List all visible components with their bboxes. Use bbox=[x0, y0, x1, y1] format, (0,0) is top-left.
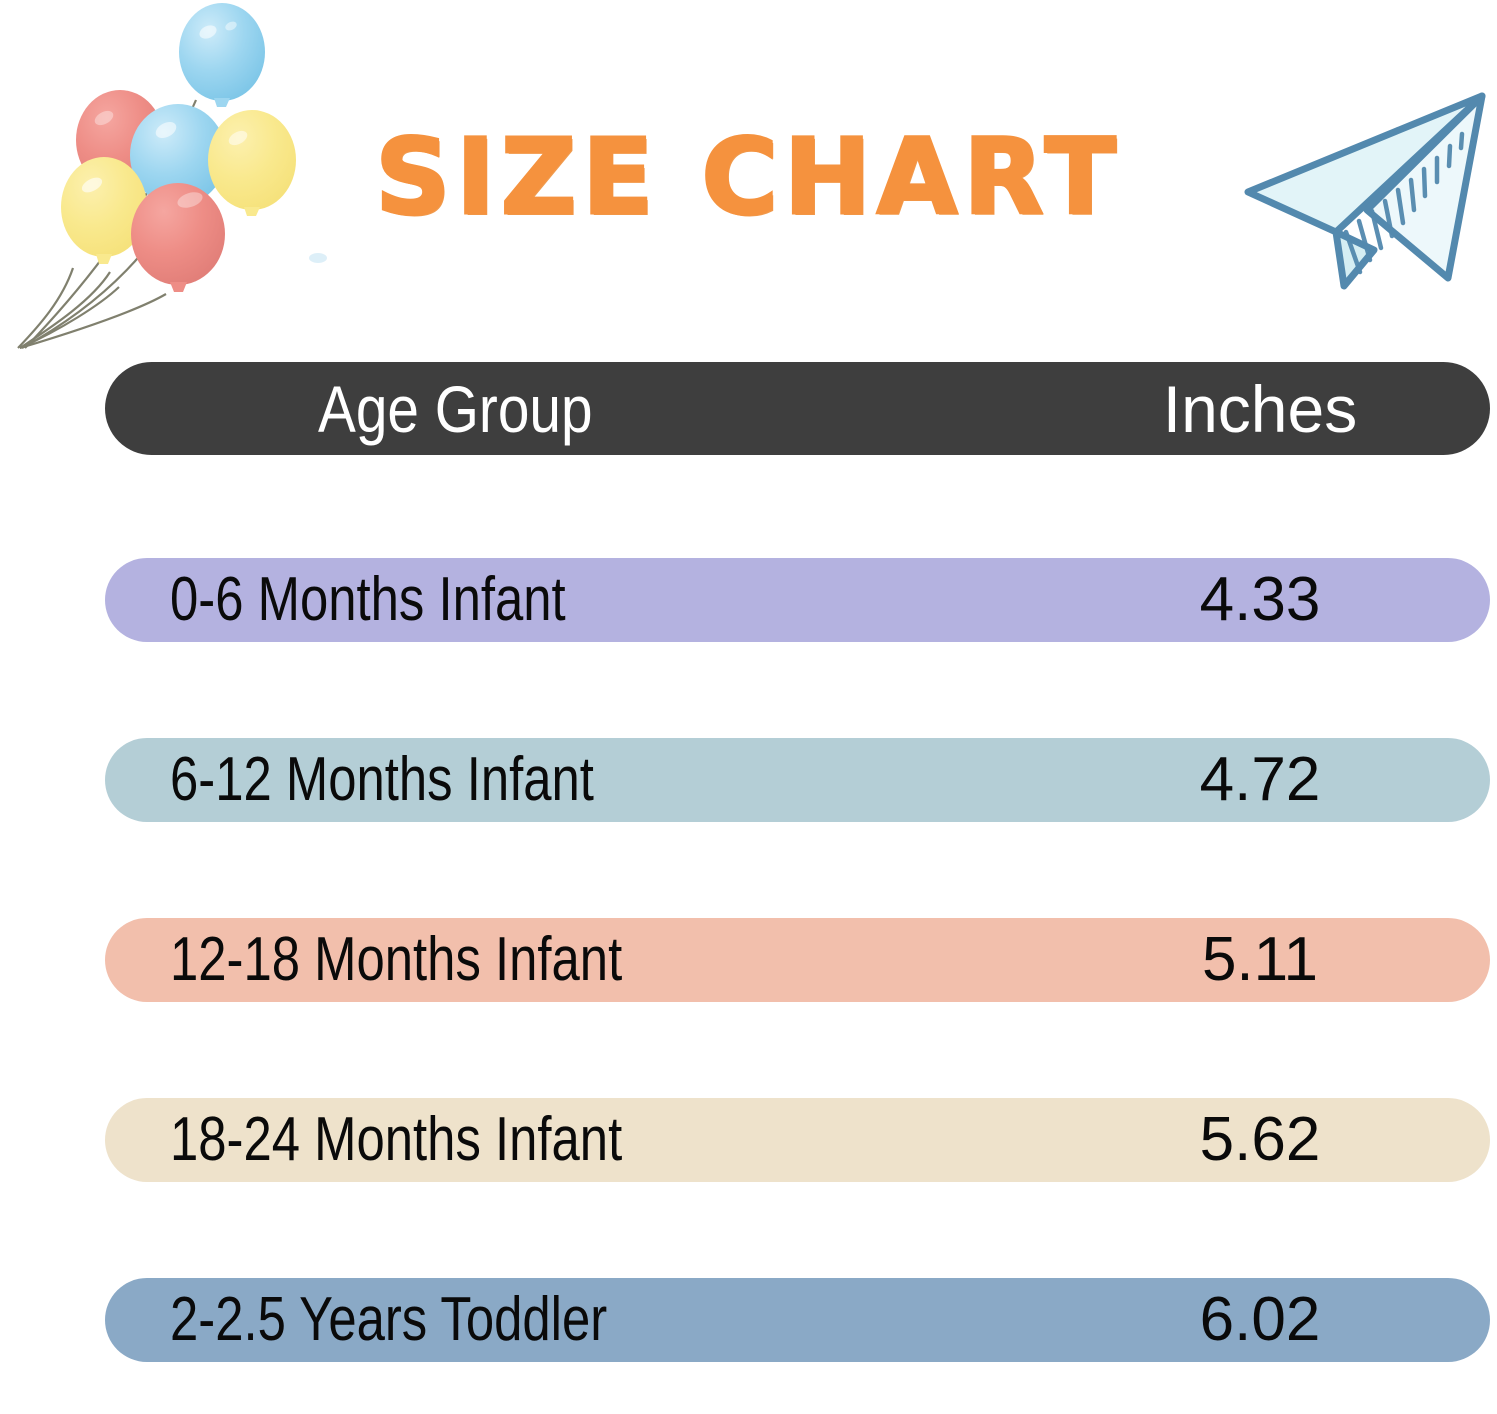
table-row: 0-6 Months Infant 4.33 bbox=[105, 558, 1490, 642]
header-inches: Inches bbox=[1105, 376, 1415, 442]
row-age-group: 18-24 Months Infant bbox=[170, 1109, 622, 1171]
size-chart-table: Age Group Inches 0-6 Months Infant 4.33 … bbox=[105, 362, 1490, 1414]
row-inches: 4.72 bbox=[1105, 749, 1415, 811]
row-inches: 4.33 bbox=[1105, 569, 1415, 631]
row-inches: 5.62 bbox=[1105, 1109, 1415, 1171]
row-age-group: 0-6 Months Infant bbox=[170, 569, 566, 631]
row-inches: 6.02 bbox=[1105, 1289, 1415, 1351]
row-age-group: 12-18 Months Infant bbox=[170, 929, 622, 991]
table-row: 12-18 Months Infant 5.11 bbox=[105, 918, 1490, 1002]
row-age-group: 6-12 Months Infant bbox=[170, 749, 594, 811]
row-age-group: 2-2.5 Years Toddler bbox=[170, 1289, 607, 1351]
table-row: 18-24 Months Infant 5.62 bbox=[105, 1098, 1490, 1182]
table-row: 6-12 Months Infant 4.72 bbox=[105, 738, 1490, 822]
page-title: SIZE CHART bbox=[0, 118, 1497, 236]
table-header-row: Age Group Inches bbox=[105, 362, 1490, 455]
table-row: 2-2.5 Years Toddler 6.02 bbox=[105, 1278, 1490, 1362]
row-inches: 5.11 bbox=[1105, 929, 1415, 991]
header-age-group: Age Group bbox=[318, 376, 593, 442]
